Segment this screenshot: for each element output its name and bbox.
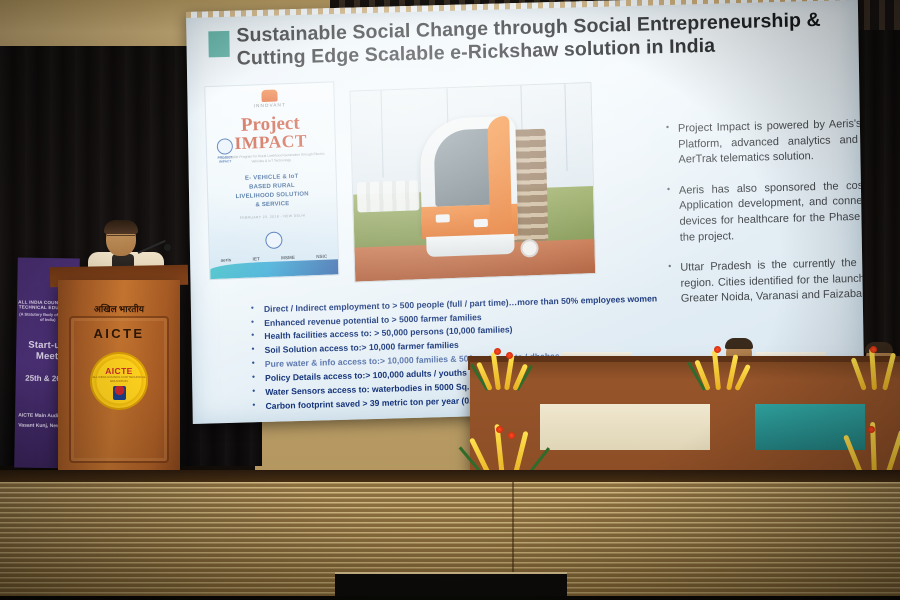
- impact-badge: PROJECT IMPACT: [213, 138, 238, 165]
- aicte-seal-emblem-icon: [113, 386, 126, 400]
- e-rickshaw-photo: [349, 82, 596, 283]
- flower-spike: [712, 350, 721, 390]
- flower-red-bloom: [506, 352, 513, 359]
- rickshaw-bumper: [426, 234, 514, 257]
- innovant-logo: INNOVANT: [205, 87, 333, 110]
- slide-title: Sustainable Social Change through Social…: [236, 8, 837, 70]
- microphone-icon: [164, 244, 171, 251]
- impact-badge-label: PROJECT IMPACT: [213, 155, 237, 164]
- flower-spike: [882, 353, 896, 391]
- stage-panel-seam: [512, 482, 514, 572]
- poster-body: E- VEHICLE & IoT BASED RURAL LIVELIHOOD …: [212, 171, 333, 211]
- podium-plate-text: AICTE: [58, 326, 180, 341]
- sponsor-logo-nsic: NSIC: [316, 254, 327, 259]
- innovant-mark-icon: [261, 89, 277, 102]
- auditorium-photo: Sustainable Social Change through Social…: [0, 0, 900, 600]
- right-bullet-2: Aeris has also sponsored the cost of App…: [665, 178, 865, 246]
- floor-shadow: [0, 596, 900, 600]
- white-chairs: [357, 180, 420, 212]
- right-bullet-3: Uttar Pradesh is the currently the Pilot…: [666, 255, 864, 308]
- sponsor-logo-aeris: aeris: [221, 257, 232, 262]
- sponsor-logo-iet: IET: [253, 256, 260, 261]
- innovant-label: INNOVANT: [254, 102, 286, 108]
- aicte-seal-icon: AICTE ALL INDIA COUNCIL FOR TECHNICAL ED…: [92, 354, 146, 408]
- podium-hindi-text: अखिल भारतीय: [58, 302, 180, 315]
- podium: अखिल भारतीय AICTE AICTE ALL INDIA COUNCI…: [58, 280, 180, 475]
- impact-badge-icon: [217, 138, 233, 155]
- sponsor-logo-msme: MSME: [281, 255, 295, 261]
- flower-arrangement-3: [858, 340, 900, 390]
- rickshaw-lamp-icon: [474, 219, 488, 227]
- speaker-hair: [104, 220, 138, 234]
- slide-accent-swatch: [208, 31, 229, 58]
- flower-arrangement-1: [482, 344, 522, 390]
- flower-red-bloom: [870, 346, 877, 353]
- flower-spike: [491, 352, 501, 390]
- aicte-seal-subtext: ALL INDIA COUNCIL FOR TECHNICAL EDUCATIO…: [92, 376, 146, 383]
- speaker-glasses-icon: [107, 235, 135, 242]
- flower-spike: [869, 348, 877, 390]
- dais-panel-cream: [540, 404, 710, 450]
- right-bullet-1: Project Impact is powered by Aeris's IoT…: [664, 116, 865, 169]
- poster-date: FEBRUARY 23, 2018 - NEW DELHI: [209, 212, 337, 221]
- flower-red-bloom: [714, 346, 721, 353]
- rickshaw-orange-pillar: [487, 116, 512, 245]
- rickshaw-lamp-icon: [436, 214, 450, 222]
- flower-arrangement-4: [478, 416, 534, 478]
- project-impact-poster: INNOVANT PROJECT IMPACT Project IMPACT A…: [204, 81, 339, 280]
- flower-red-bloom: [868, 426, 875, 433]
- poster-ministry-logo-icon: [265, 231, 282, 249]
- e-rickshaw-vehicle: [413, 115, 553, 262]
- rickshaw-wheel: [520, 239, 538, 258]
- flower-red-bloom: [508, 432, 515, 439]
- flower-red-bloom: [496, 426, 503, 433]
- flower-arrangement-5: [852, 414, 900, 478]
- flower-red-bloom: [494, 348, 501, 355]
- flower-arrangement-2: [700, 342, 744, 390]
